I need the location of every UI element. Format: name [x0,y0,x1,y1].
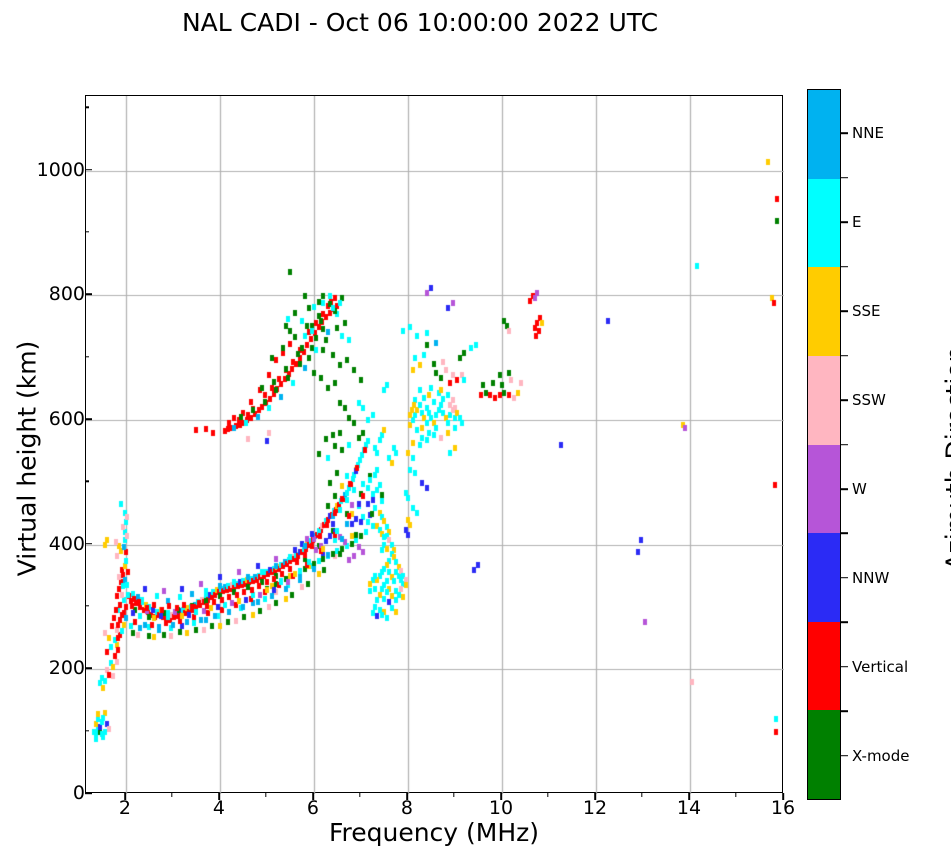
x-tick-label: 2 [95,797,155,819]
colorbar-tick-label-w: W [852,480,867,498]
x-tick-label: 6 [283,797,343,819]
colorbar-tick-mark [841,133,848,135]
colorbar-tick-mark [841,222,848,224]
y-tick-mark-minor [85,481,89,482]
x-tick-label: 14 [659,797,719,819]
colorbar-segment-nnw[interactable] [808,533,840,622]
colorbar-boundary-mark [841,621,848,623]
y-tick-label: 1000 [29,159,85,181]
colorbar-tick-label-nnw: NNW [852,569,889,587]
y-tick-mark-minor [85,730,89,731]
colorbar-tick-label-sse: SSE [852,302,881,320]
colorbar-boundary-mark [841,710,848,712]
azimuth-colorbar[interactable] [807,89,841,800]
x-tick-label: 4 [189,797,249,819]
colorbar-boundary-mark [841,444,848,446]
x-tick-mark-minor [359,793,360,797]
colorbar-tick-labels: NNEESSESSWWNNWVerticalX-mode [841,89,951,800]
x-tick-label: 12 [565,797,625,819]
plot-area[interactable] [85,95,783,793]
page-title: NAL CADI - Oct 06 10:00:00 2022 UTC [0,8,840,37]
y-tick-mark [85,294,92,296]
x-tick-mark-minor [453,793,454,797]
y-tick-mark [85,418,92,420]
colorbar-tick-mark [841,310,848,312]
x-tick-mark-minor [735,793,736,797]
colorbar-boundary-mark [841,266,848,268]
colorbar-segment-x-mode[interactable] [808,710,840,799]
y-tick-label: 0 [29,782,85,804]
y-tick-mark-minor [85,107,89,108]
y-tick-mark [85,169,92,171]
colorbar-tick-label-vertical: Vertical [852,658,908,676]
colorbar-tick-label-x-mode: X-mode [852,747,909,765]
colorbar-segment-ssw[interactable] [808,356,840,445]
x-tick-mark-minor [547,793,548,797]
x-axis-label: Frequency (MHz) [85,818,783,847]
x-tick-label: 10 [471,797,531,819]
colorbar-tick-label-nne: NNE [852,124,884,142]
colorbar-tick-mark [841,666,848,668]
colorbar-boundary-mark [841,177,848,179]
colorbar-tick-label-ssw: SSW [852,391,886,409]
y-tick-mark [85,543,92,545]
ionogram-scatter-data [86,96,784,794]
colorbar-segment-e[interactable] [808,179,840,268]
ionogram-figure: NAL CADI - Oct 06 10:00:00 2022 UTC 0200… [0,0,951,856]
colorbar-segment-vertical[interactable] [808,622,840,711]
y-axis-label: Virtual height (km) [13,199,42,719]
x-tick-mark-minor [641,793,642,797]
colorbar-boundary-mark [841,355,848,357]
x-tick-label: 8 [377,797,437,819]
colorbar-axis-label: Azimuth Direction [941,249,951,669]
colorbar-tick-mark [841,488,848,490]
colorbar-tick-mark [841,399,848,401]
y-tick-mark-minor [85,231,89,232]
x-tick-mark-minor [265,793,266,797]
colorbar-tick-mark [841,755,848,757]
colorbar-tick-mark [841,577,848,579]
y-tick-mark-minor [85,356,89,357]
x-tick-label: 16 [753,797,813,819]
y-tick-mark-minor [85,605,89,606]
colorbar-segment-sse[interactable] [808,267,840,356]
colorbar-tick-label-e: E [852,213,861,231]
colorbar-boundary-mark [841,533,848,535]
y-tick-mark [85,668,92,670]
colorbar-segment-nne[interactable] [808,90,840,179]
x-tick-mark-minor [171,793,172,797]
colorbar-segment-w[interactable] [808,445,840,534]
